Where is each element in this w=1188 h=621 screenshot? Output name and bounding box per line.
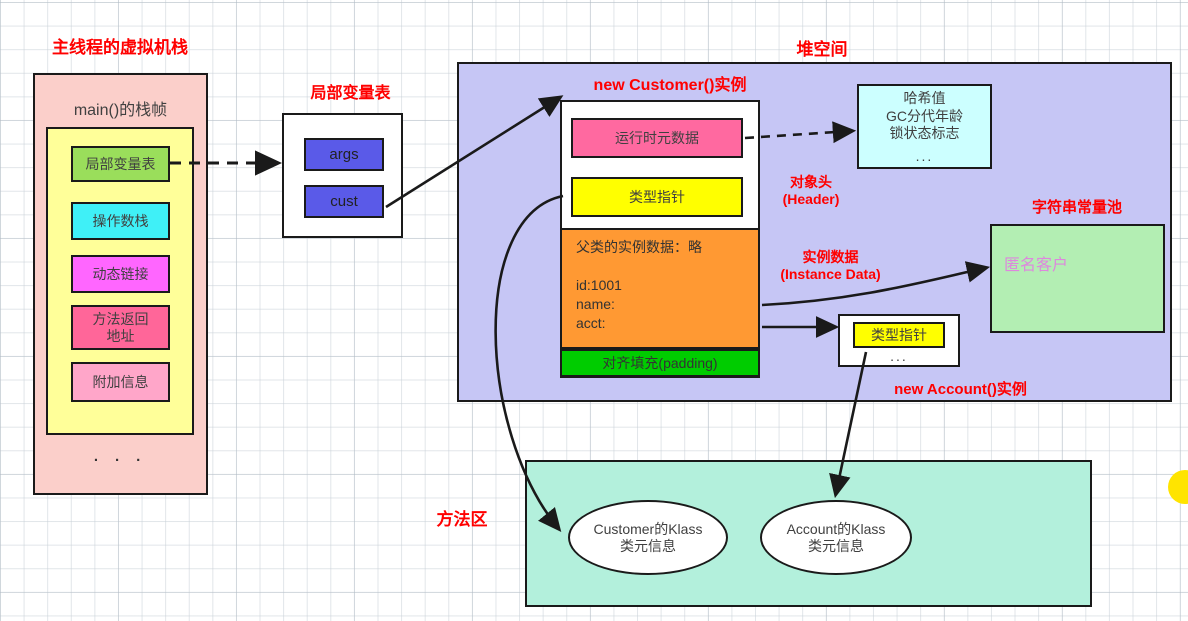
stack-slot-return-address: 方法返回 地址 [71, 305, 170, 350]
stack-slot-additional-info: 附加信息 [71, 362, 170, 402]
account-type-pointer: 类型指针 [853, 322, 945, 348]
label-method-area: 方法区 [430, 510, 494, 530]
label-new-account-instance: new Account()实例 [878, 381, 1043, 399]
object-header-detail-ellipsis: ... [857, 148, 992, 166]
label-heap: 堆空间 [782, 40, 862, 60]
string-constant-pool-box [990, 224, 1165, 333]
account-klass-ellipse: Account的Klass 类元信息 [760, 500, 912, 575]
customer-runtime-metadata: 运行时元数据 [571, 118, 743, 158]
stack-slot-local-var-table: 局部变量表 [71, 146, 170, 182]
label-new-customer-instance: new Customer()实例 [570, 76, 770, 95]
label-local-variable-table: 局部变量表 [288, 84, 413, 103]
corner-dot-decoration [1168, 470, 1188, 504]
customer-instance-data: 父类的实例数据：略 id:1001 name: acct: [560, 228, 760, 349]
diagram-canvas: 主线程的虚拟机栈 main()的栈帧 局部变量表 操作数栈 动态链接 方法返回 … [0, 0, 1188, 621]
label-object-header: 对象头 (Header) [763, 174, 859, 208]
local-var-cust: cust [304, 185, 384, 218]
stack-ellipsis: · · · [33, 452, 208, 469]
local-variable-table-box [282, 113, 403, 238]
customer-klass-ellipse: Customer的Klass 类元信息 [568, 500, 728, 575]
customer-type-pointer: 类型指针 [571, 177, 743, 217]
object-header-detail-lines: 哈希值 GC分代年龄 锁状态标志 [857, 90, 992, 143]
local-var-args: args [304, 138, 384, 171]
stack-slot-dynamic-link: 动态链接 [71, 255, 170, 293]
label-instance-data: 实例数据 (Instance Data) [758, 249, 903, 283]
label-vm-stack: 主线程的虚拟机栈 [35, 38, 205, 58]
stack-slot-operand-stack: 操作数栈 [71, 202, 170, 240]
customer-padding: 对齐填充(padding) [560, 349, 760, 377]
main-frame-title: main()的栈帧 [33, 101, 208, 121]
string-pool-value: 匿名客户 [1004, 256, 1124, 276]
account-instance-ellipsis: ... [838, 348, 960, 366]
label-string-constant-pool: 字符串常量池 [1018, 199, 1136, 217]
